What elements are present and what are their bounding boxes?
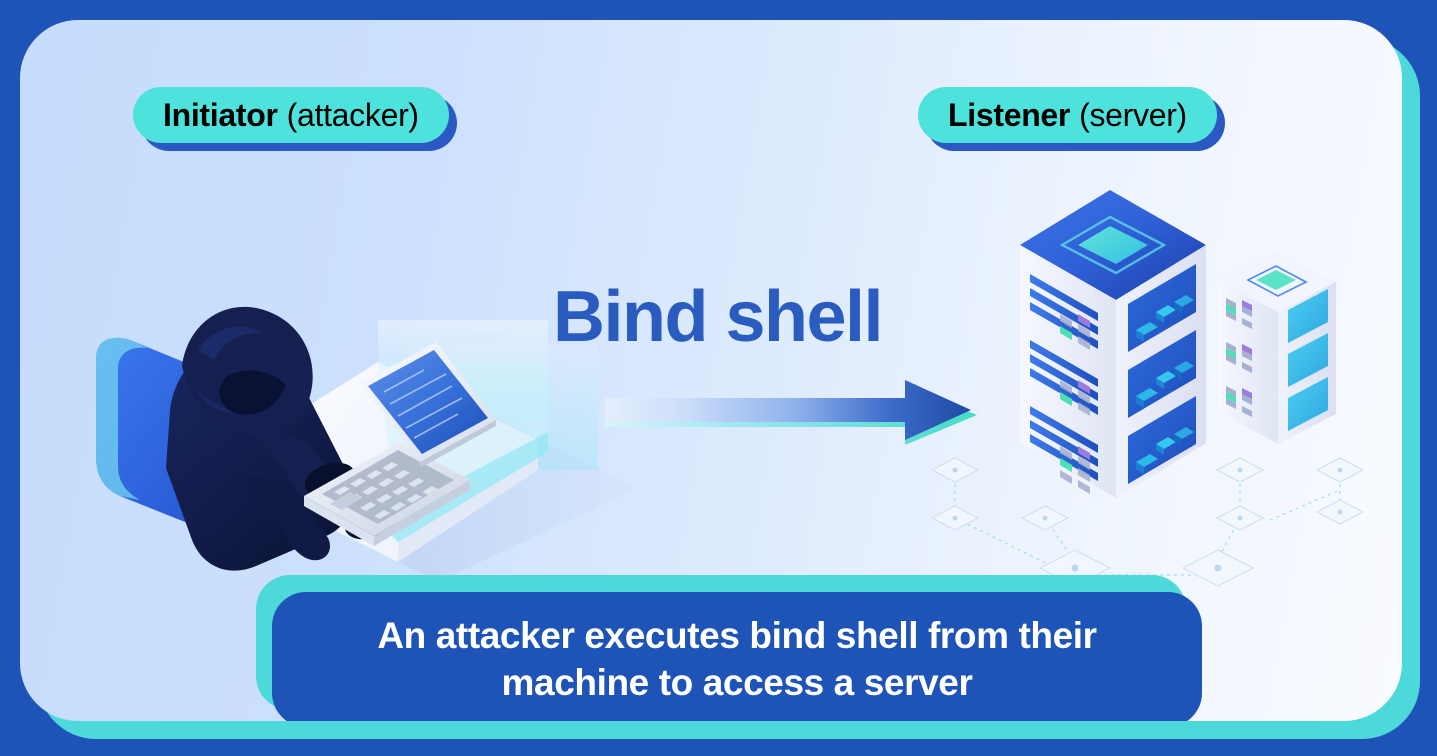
badge-initiator[interactable]: Initiator (attacker) — [133, 87, 449, 143]
attacker-illustration — [78, 170, 638, 590]
badge-initiator-bold: Initiator — [163, 97, 278, 134]
badge-initiator-light: (attacker) — [287, 97, 419, 134]
badge-listener-bold: Listener — [948, 97, 1070, 134]
caption-banner: An attacker executes bind shell from the… — [272, 592, 1202, 721]
diagram-card: Bind shell — [20, 20, 1402, 721]
primary-server-stack — [1020, 190, 1206, 498]
arrow-body — [605, 380, 971, 440]
secondary-server-stack — [1218, 250, 1336, 444]
badge-listener[interactable]: Listener (server) — [918, 87, 1217, 143]
badge-listener-light: (server) — [1079, 97, 1187, 134]
server-illustration — [920, 170, 1370, 620]
page-title: Bind shell — [553, 276, 882, 358]
caption-text: An attacker executes bind shell from the… — [327, 613, 1147, 706]
outer-frame: Bind shell — [0, 0, 1437, 756]
